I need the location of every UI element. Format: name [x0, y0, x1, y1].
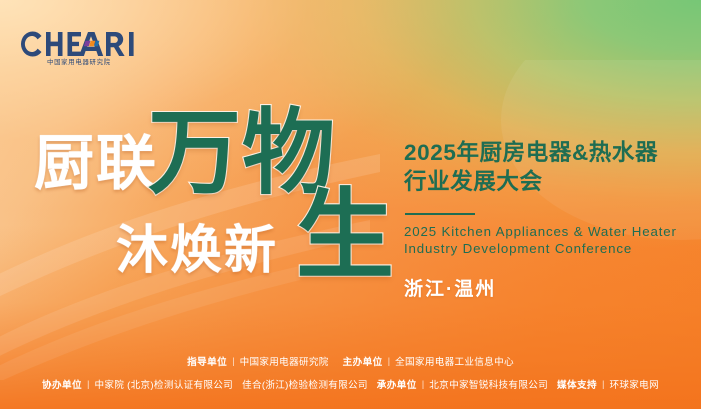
footer-separator: |: [87, 379, 90, 390]
footer-label-media: 媒体支持: [557, 377, 597, 391]
conference-location: 浙江·温州: [404, 274, 694, 301]
footer-item-coorganizer-2: 佳合(浙江)检验检测有限公司: [242, 377, 368, 391]
headline-part-chulian: 厨联: [34, 134, 158, 194]
footer-item-media: 媒体支持 | 环球家电网: [557, 377, 659, 391]
footer-separator: |: [388, 356, 391, 367]
footer-item-host: 主办单位 | 全国家用电器工业信息中心: [343, 354, 514, 368]
footer-label-coorganizer: 协办单位: [42, 377, 82, 391]
footer-value-media: 环球家电网: [610, 377, 659, 391]
footer-value-guiding: 中国家用电器研究院: [240, 354, 329, 368]
footer-label-host: 主办单位: [343, 354, 383, 368]
conference-title-line2: 行业发展大会: [404, 167, 694, 196]
footer-separator: |: [422, 379, 425, 390]
footer-item-coorganizer: 协办单位 | 中家院 (北京)检测认证有限公司: [42, 377, 233, 391]
footer-row-organizers: 指导单位 | 中国家用电器研究院 主办单位 | 全国家用电器工业信息中心: [187, 354, 514, 368]
footer-separator: |: [232, 356, 235, 367]
headline-part-muhuanxin: 沐焕新: [116, 226, 278, 278]
footer-item-guiding: 指导单位 | 中国家用电器研究院: [187, 354, 329, 368]
cheari-logo: 中国家用电器研究院: [18, 27, 148, 67]
headline-part-sheng: 生: [296, 188, 394, 286]
conference-info-block: 2025年厨房电器&热水器 行业发展大会 2025 Kitchen Applia…: [404, 138, 694, 301]
title-divider: [405, 213, 475, 215]
main-headline: 厨联 万物 沐焕新 生: [0, 100, 400, 310]
footer-bar: 指导单位 | 中国家用电器研究院 主办单位 | 全国家用电器工业信息中心 协办单…: [0, 341, 701, 409]
footer-label-undertaker: 承办单位: [377, 377, 417, 391]
cheari-logo-subtitle: 中国家用电器研究院: [47, 57, 111, 66]
footer-value-undertaker: 北京中家智锐科技有限公司: [429, 377, 548, 391]
footer-label-guiding: 指导单位: [187, 354, 227, 368]
conference-poster: 中国家用电器研究院 厨联 万物 沐焕新 生 2025年厨房电器&热水器 行业发展…: [0, 0, 701, 409]
footer-separator: |: [602, 379, 605, 390]
conference-english-line1: 2025 Kitchen Appliances & Water Heater: [404, 223, 694, 241]
footer-value-coorganizer-2: 佳合(浙江)检验检测有限公司: [242, 377, 368, 391]
footer-value-coorganizer-1: 中家院 (北京)检测认证有限公司: [95, 377, 234, 391]
cheari-logo-accent: [84, 41, 100, 46]
cheari-wordmark-glyphs: [21, 31, 134, 56]
conference-title-line1: 2025年厨房电器&热水器: [404, 138, 694, 167]
conference-english-line2: Industry Development Conference: [404, 240, 694, 258]
footer-item-undertaker: 承办单位 | 北京中家智锐科技有限公司: [377, 377, 548, 391]
footer-value-host: 全国家用电器工业信息中心: [395, 354, 514, 368]
footer-row-partners: 协办单位 | 中家院 (北京)检测认证有限公司 佳合(浙江)检验检测有限公司 承…: [42, 377, 659, 391]
